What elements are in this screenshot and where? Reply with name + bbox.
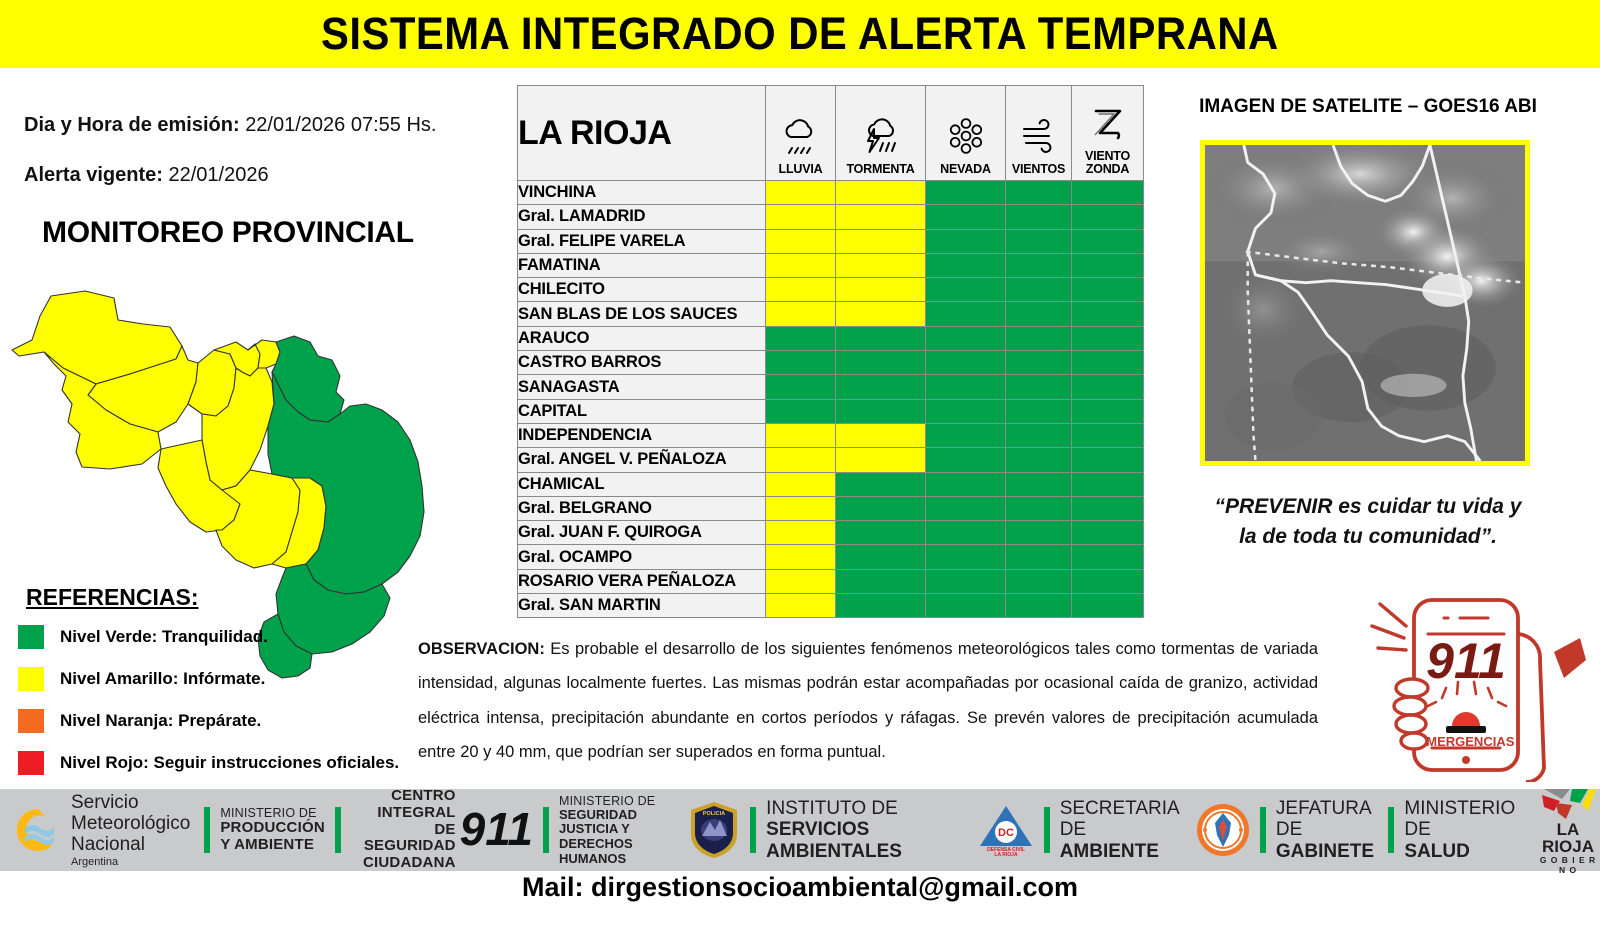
alert-cell-zonda (1072, 375, 1144, 399)
department-name: ARAUCO (518, 326, 766, 350)
alert-cell-zonda (1072, 569, 1144, 593)
police-badge-icon: POLICIA (688, 800, 740, 860)
seguridad-b1: SEGURIDAD (559, 808, 676, 823)
emission-value: 22/01/2026 07:55 Hs. (245, 114, 436, 136)
alert-cell-zonda (1072, 472, 1144, 496)
alert-cell-vientos (1006, 278, 1072, 302)
table-row: SAN BLAS DE LOS SAUCES (518, 302, 1144, 326)
alert-cell-lluvia (766, 423, 836, 447)
alert-cell-vientos (1006, 253, 1072, 277)
alert-cell-zonda (1072, 399, 1144, 423)
table-row: Gral. LAMADRID (518, 205, 1144, 229)
column-label-nevada: NEVADA (940, 163, 991, 176)
table-row: CHAMICAL (518, 472, 1144, 496)
alert-cell-lluvia (766, 278, 836, 302)
secretaria-small: SECRETARIA DE (1060, 798, 1182, 841)
alert-cell-tormenta (836, 302, 926, 326)
logo-seguridad-justicia: MINISTERIO DE SEGURIDAD JUSTICIA Y DEREC… (559, 794, 676, 866)
alert-cell-zonda (1072, 448, 1144, 472)
alert-cell-zonda (1072, 521, 1144, 545)
alert-cell-vientos (1006, 351, 1072, 375)
wind-icon (1018, 113, 1060, 159)
logo-jefatura-seal (1196, 789, 1250, 871)
alert-cell-vientos (1006, 181, 1072, 205)
divider-bar (204, 807, 210, 853)
prevention-quote: “PREVENIR es cuidar tu vida y la de toda… (1168, 492, 1568, 552)
department-name: Gral. JUAN F. QUIROGA (518, 521, 766, 545)
alert-cell-lluvia (766, 326, 836, 350)
alert-cell-vientos (1006, 569, 1072, 593)
column-label-zonda: VIENTOZONDA (1085, 150, 1130, 176)
department-name: CAPITAL (518, 399, 766, 423)
alert-table-zone: LA RIOJA (517, 85, 1144, 618)
alert-cell-zonda (1072, 253, 1144, 277)
smn-line1: Servicio (71, 792, 190, 813)
legend-title: REFERENCIAS: (26, 584, 438, 611)
alert-cell-vientos (1006, 399, 1072, 423)
alert-cell-tormenta (836, 448, 926, 472)
alert-cell-nevada (926, 326, 1006, 350)
smn-logo-icon (12, 804, 64, 856)
observation-text: OBSERVACION: Es probable el desarrollo d… (418, 632, 1318, 769)
legend-swatch-verde (18, 625, 44, 649)
police-label: POLICIA (703, 811, 725, 817)
alert-cell-lluvia (766, 375, 836, 399)
department-name: CHAMICAL (518, 472, 766, 496)
zonda-z-icon (1088, 100, 1128, 146)
alert-cell-zonda (1072, 594, 1144, 618)
alert-cell-zonda (1072, 229, 1144, 253)
table-row: Gral. FELIPE VARELA (518, 229, 1144, 253)
department-name: Gral. ANGEL V. PEÑALOZA (518, 448, 766, 472)
emission-datetime: Dia y Hora de emisión: 22/01/2026 07:55 … (24, 114, 436, 137)
alert-cell-nevada (926, 302, 1006, 326)
centro-b2: DE SEGURIDAD (351, 822, 456, 856)
divider-bar (1044, 807, 1050, 853)
divider-bar (335, 807, 341, 853)
seguridad-b3: DERECHOS HUMANOS (559, 837, 676, 866)
department-name: ROSARIO VERA PEÑALOZA (518, 569, 766, 593)
alert-cell-nevada (926, 569, 1006, 593)
smn-line4: Argentina (71, 856, 190, 868)
column-header-nevada: NEVADA (926, 86, 1006, 181)
alert-cell-lluvia (766, 448, 836, 472)
province-name: LA RIOJA (518, 114, 671, 152)
alert-cell-lluvia (766, 496, 836, 520)
alert-cell-lluvia (766, 302, 836, 326)
alert-cell-lluvia (766, 521, 836, 545)
table-row: VINCHINA (518, 181, 1144, 205)
legend-item-verde: Nivel Verde: Tranquilidad. (18, 625, 438, 649)
alert-cell-nevada (926, 472, 1006, 496)
table-row: Gral. ANGEL V. PEÑALOZA (518, 448, 1144, 472)
satellite-image (1200, 140, 1530, 466)
legend-swatch-naranja (18, 709, 44, 733)
alert-cell-tormenta (836, 375, 926, 399)
logo-la-rioja-gobierno: LA RIOJA G O B I E R N O (1536, 789, 1600, 871)
salud-bold: SALUD (1404, 841, 1520, 862)
emergency-911-graphic: 911 EMERGENCIAS (1348, 582, 1588, 782)
department-name: SANAGASTA (518, 375, 766, 399)
alert-cell-nevada (926, 423, 1006, 447)
alert-cell-nevada (926, 205, 1006, 229)
alert-cell-vientos (1006, 229, 1072, 253)
logo-secretaria-ambiente: SECRETARIA DE AMBIENTE (1060, 798, 1182, 862)
table-row: FAMATINA (518, 253, 1144, 277)
smn-line3: Nacional (71, 834, 190, 855)
seguridad-small: MINISTERIO DE (559, 794, 676, 808)
seguridad-b2: JUSTICIA Y (559, 822, 676, 837)
quote-line-2: la de toda tu comunidad”. (1168, 522, 1568, 552)
emergency-number: 911 (1426, 633, 1506, 689)
alert-table-body: VINCHINAGral. LAMADRIDGral. FELIPE VAREL… (518, 181, 1144, 618)
alert-cell-vientos (1006, 205, 1072, 229)
table-row: ARAUCO (518, 326, 1144, 350)
alert-cell-tormenta (836, 351, 926, 375)
alert-cell-zonda (1072, 181, 1144, 205)
legend-item-naranja: Nivel Naranja: Prepárate. (18, 709, 438, 733)
alert-cell-tormenta (836, 181, 926, 205)
alert-cell-nevada (926, 496, 1006, 520)
alert-cell-lluvia (766, 545, 836, 569)
alert-cell-nevada (926, 253, 1006, 277)
alert-cell-vientos (1006, 472, 1072, 496)
alert-cell-tormenta (836, 229, 926, 253)
observation-label: OBSERVACION: (418, 640, 545, 658)
instituto-bold: SERVICIOS AMBIENTALES (766, 819, 964, 862)
page-title: SISTEMA INTEGRADO DE ALERTA TEMPRANA (321, 8, 1279, 60)
centro-911-number: 911 (460, 808, 533, 852)
column-label-vientos: VIENTOS (1012, 163, 1065, 176)
alert-cell-zonda (1072, 302, 1144, 326)
alert-cell-zonda (1072, 496, 1144, 520)
alert-cell-zonda (1072, 545, 1144, 569)
column-header-lluvia: LLUVIA (766, 86, 836, 181)
table-header-row: LA RIOJA (518, 86, 1144, 181)
legend-label-naranja: Nivel Naranja: Prepárate. (60, 711, 261, 731)
alert-cell-vientos (1006, 448, 1072, 472)
column-header-zonda: VIENTOZONDA (1072, 86, 1144, 181)
alert-cell-vientos (1006, 375, 1072, 399)
alert-cell-nevada (926, 594, 1006, 618)
table-row: SANAGASTA (518, 375, 1144, 399)
alert-cell-tormenta (836, 423, 926, 447)
alert-cell-lluvia (766, 594, 836, 618)
defensa-civil-l2: LA RIOJA (994, 852, 1018, 856)
legend-label-amarillo: Nivel Amarillo: Infórmate. (60, 669, 265, 689)
alert-cell-vientos (1006, 594, 1072, 618)
legend: REFERENCIAS: Nivel Verde: Tranquilidad. … (18, 584, 438, 793)
department-name: Gral. SAN MARTIN (518, 594, 766, 618)
legend-label-verde: Nivel Verde: Tranquilidad. (60, 627, 268, 647)
thunderstorm-icon (860, 113, 902, 159)
column-header-tormenta: TORMENTA (836, 86, 926, 181)
alert-cell-nevada (926, 351, 1006, 375)
table-row: CASTRO BARROS (518, 351, 1144, 375)
alert-cell-tormenta (836, 594, 926, 618)
alert-validity: Alerta vigente: 22/01/2026 (24, 164, 269, 187)
alert-cell-vientos (1006, 302, 1072, 326)
alert-cell-vientos (1006, 496, 1072, 520)
divider-bar (1260, 807, 1266, 853)
alert-cell-nevada (926, 521, 1006, 545)
alert-table: LA RIOJA (517, 85, 1144, 618)
alert-cell-vientos (1006, 545, 1072, 569)
column-header-vientos: VIENTOS (1006, 86, 1072, 181)
logo-smn: Servicio Meteorológico Nacional Argentin… (12, 789, 190, 871)
footer-logos: Servicio Meteorológico Nacional Argentin… (0, 789, 1600, 871)
divider-bar (750, 807, 756, 853)
la-rioja-bold: LA RIOJA (1536, 821, 1600, 855)
alert-cell-lluvia (766, 205, 836, 229)
header-banner: SISTEMA INTEGRADO DE ALERTA TEMPRANA (0, 0, 1600, 68)
secretaria-bold: AMBIENTE (1060, 841, 1182, 862)
alert-cell-tormenta (836, 569, 926, 593)
alert-cell-lluvia (766, 472, 836, 496)
alert-cell-zonda (1072, 351, 1144, 375)
legend-item-rojo: Nivel Rojo: Seguir instrucciones oficial… (18, 751, 438, 775)
column-label-lluvia: LLUVIA (779, 163, 823, 176)
emergency-label: EMERGENCIAS (1418, 734, 1515, 749)
centro-b3: CIUDADANA (351, 855, 456, 872)
department-name: SAN BLAS DE LOS SAUCES (518, 302, 766, 326)
logo-defensa-civil: DC DEFENSA CIVIL LA RIOJA (978, 789, 1034, 871)
alert-cell-tormenta (836, 496, 926, 520)
alert-cell-vientos (1006, 326, 1072, 350)
la-rioja-fan-icon (1536, 785, 1600, 821)
legend-swatch-amarillo (18, 667, 44, 691)
alert-cell-tormenta (836, 205, 926, 229)
alert-cell-nevada (926, 181, 1006, 205)
alert-cell-lluvia (766, 229, 836, 253)
instituto-small: INSTITUTO DE (766, 798, 964, 819)
alert-cell-tormenta (836, 399, 926, 423)
centro-b1: CENTRO INTEGRAL (351, 788, 456, 822)
alert-cell-nevada (926, 278, 1006, 302)
alert-cell-zonda (1072, 278, 1144, 302)
alert-cell-zonda (1072, 326, 1144, 350)
alert-cell-zonda (1072, 423, 1144, 447)
logo-jefatura-gabinete: JEFATURA DE GABINETE (1276, 798, 1378, 862)
department-name: INDEPENDENCIA (518, 423, 766, 447)
quote-line-1: “PREVENIR es cuidar tu vida y (1168, 492, 1568, 522)
alert-cell-tormenta (836, 278, 926, 302)
defensa-civil-icon: DC DEFENSA CIVIL LA RIOJA (978, 804, 1034, 856)
province-header: LA RIOJA (518, 86, 766, 181)
salud-small: MINISTERIO DE (1404, 798, 1520, 841)
table-row: CHILECITO (518, 278, 1144, 302)
alert-cell-vientos (1006, 521, 1072, 545)
observation-body: Es probable el desarrollo de los siguien… (418, 640, 1318, 761)
alert-cell-nevada (926, 545, 1006, 569)
department-name: CHILECITO (518, 278, 766, 302)
alert-cell-tormenta (836, 326, 926, 350)
alert-cell-nevada (926, 399, 1006, 423)
monitoring-title: MONITOREO PROVINCIAL (42, 216, 414, 250)
table-row: Gral. JUAN F. QUIROGA (518, 521, 1144, 545)
table-row: ROSARIO VERA PEÑALOZA (518, 569, 1144, 593)
legend-label-rojo: Nivel Rojo: Seguir instrucciones oficial… (60, 753, 399, 773)
provincial-seal-icon (1196, 803, 1250, 857)
alert-cell-nevada (926, 375, 1006, 399)
alert-cell-lluvia (766, 181, 836, 205)
defensa-civil-initials: DC (998, 827, 1014, 839)
logo-centro-911: CENTRO INTEGRAL DE SEGURIDAD CIUDADANA 9… (351, 789, 533, 871)
alert-cell-vientos (1006, 423, 1072, 447)
produccion-bold2: Y AMBIENTE (220, 837, 325, 854)
divider-bar (1388, 807, 1394, 853)
alert-cell-tormenta (836, 472, 926, 496)
alert-cell-lluvia (766, 253, 836, 277)
smn-line2: Meteorológico (71, 813, 190, 834)
snowflake-icon (945, 113, 987, 159)
rain-cloud-icon (780, 113, 822, 159)
department-name: Gral. FELIPE VARELA (518, 229, 766, 253)
department-name: Gral. LAMADRID (518, 205, 766, 229)
alert-cell-tormenta (836, 545, 926, 569)
table-row: Gral. BELGRANO (518, 496, 1144, 520)
alert-cell-tormenta (836, 253, 926, 277)
satellite-title: IMAGEN DE SATELITE – GOES16 ABI (1168, 96, 1568, 118)
validity-label: Alerta vigente: (24, 164, 163, 186)
legend-swatch-rojo (18, 751, 44, 775)
column-label-tormenta: TORMENTA (846, 163, 914, 176)
department-name: FAMATINA (518, 253, 766, 277)
alert-cell-lluvia (766, 351, 836, 375)
divider-bar (543, 807, 549, 853)
emission-label: Dia y Hora de emisión: (24, 114, 240, 136)
alert-cell-lluvia (766, 569, 836, 593)
table-row: INDEPENDENCIA (518, 423, 1144, 447)
jefatura-bold: GABINETE (1276, 841, 1378, 862)
validity-value: 22/01/2026 (169, 164, 269, 186)
produccion-bold1: PRODUCCIÓN (220, 820, 325, 837)
logo-policia: POLICIA (688, 789, 740, 871)
alert-cell-lluvia (766, 399, 836, 423)
department-name: Gral. OCAMPO (518, 545, 766, 569)
jefatura-small: JEFATURA DE (1276, 798, 1378, 841)
table-row: CAPITAL (518, 399, 1144, 423)
department-name: VINCHINA (518, 181, 766, 205)
table-row: Gral. OCAMPO (518, 545, 1144, 569)
logo-servicios-ambientales: INSTITUTO DE SERVICIOS AMBIENTALES (766, 798, 964, 862)
department-name: CASTRO BARROS (518, 351, 766, 375)
contact-mail: Mail: dirgestionsocioambiental@gmail.com (0, 872, 1600, 903)
legend-item-amarillo: Nivel Amarillo: Infórmate. (18, 667, 438, 691)
alert-cell-tormenta (836, 521, 926, 545)
department-name: Gral. BELGRANO (518, 496, 766, 520)
logo-ministerio-salud: MINISTERIO DE SALUD (1404, 798, 1520, 862)
alert-cell-nevada (926, 229, 1006, 253)
alert-cell-nevada (926, 448, 1006, 472)
alert-cell-zonda (1072, 205, 1144, 229)
logo-produccion-ambiente: MINISTERIO DE PRODUCCIÓN Y AMBIENTE (220, 806, 325, 854)
table-row: Gral. SAN MARTIN (518, 594, 1144, 618)
